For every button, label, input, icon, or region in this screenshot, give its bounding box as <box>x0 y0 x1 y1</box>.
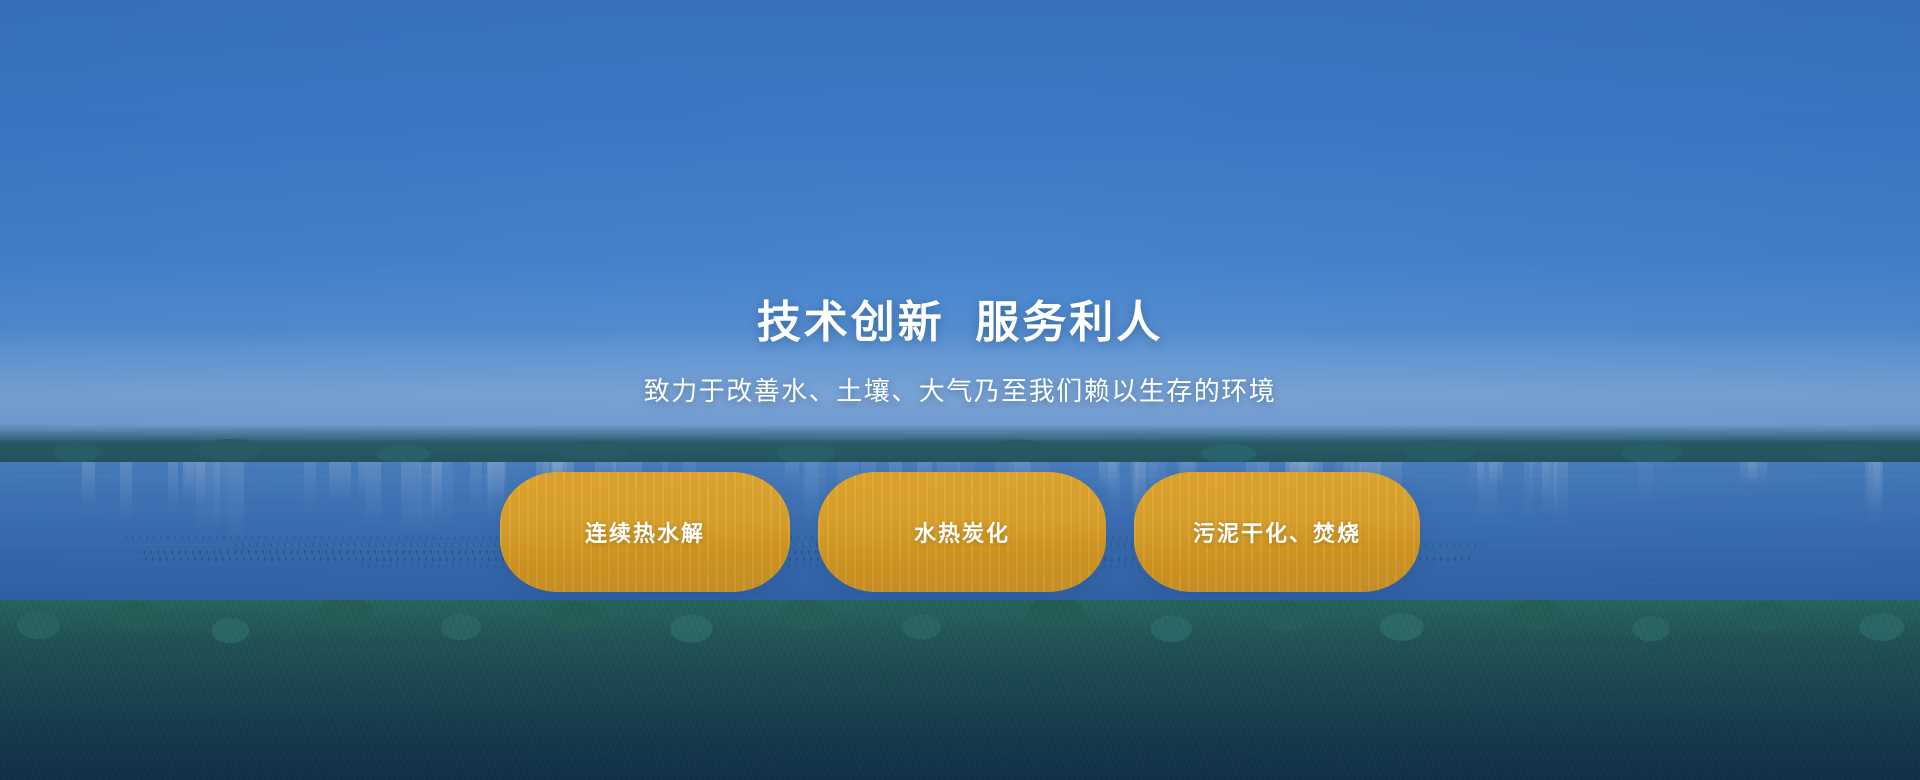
pill-button-label: 污泥干化、焚烧 <box>1193 516 1361 548</box>
pill-button-sludge-drying-incineration[interactable]: 污泥干化、焚烧 <box>1134 472 1420 592</box>
page-title: 技术创新 服务利人 <box>0 297 1920 350</box>
pill-button-label: 连续热水解 <box>585 516 705 548</box>
cta-pill-row: 连续热水解水热炭化污泥干化、焚烧 <box>500 472 1430 592</box>
pill-button-continuous-thermal-hydrolysis[interactable]: 连续热水解 <box>500 472 790 592</box>
hero-content: 技术创新 服务利人 致力于改善水、土壤、大气乃至我们赖以生存的环境 连续热水解水… <box>0 0 1920 780</box>
pill-button-hydrothermal-carbonization[interactable]: 水热炭化 <box>818 472 1106 592</box>
hero-banner: 技术创新 服务利人 致力于改善水、土壤、大气乃至我们赖以生存的环境 连续热水解水… <box>0 0 1920 780</box>
pill-button-label: 水热炭化 <box>914 516 1010 548</box>
page-subtitle: 致力于改善水、土壤、大气乃至我们赖以生存的环境 <box>0 371 1920 408</box>
